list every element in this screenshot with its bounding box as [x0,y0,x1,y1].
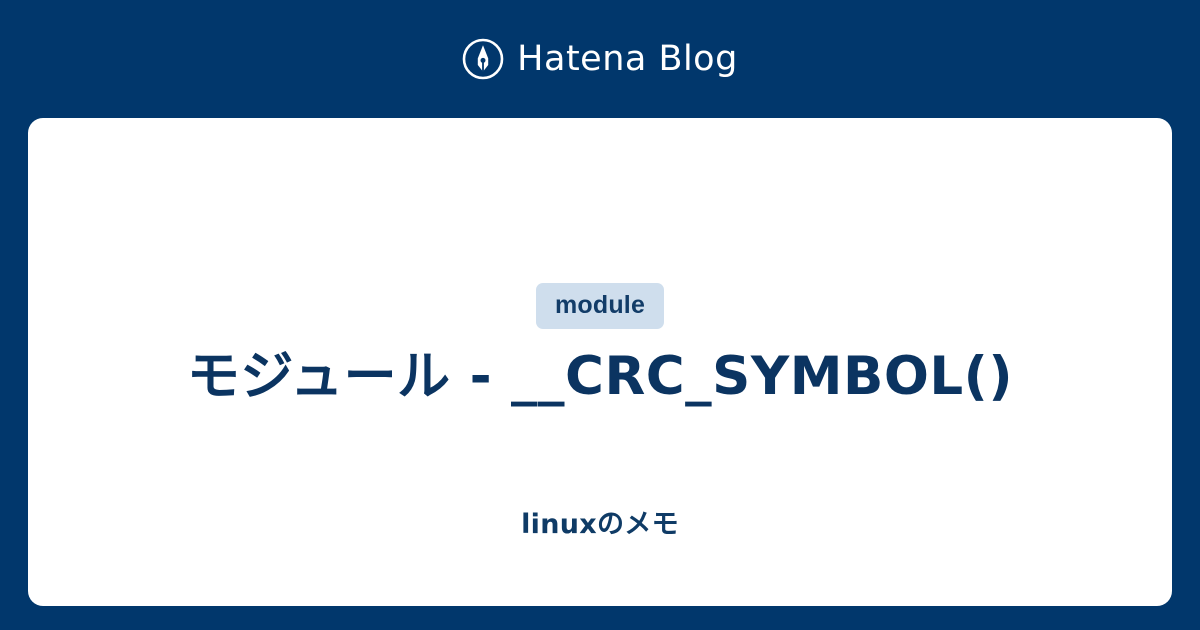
category-badge: module [536,283,664,329]
brand-name: Hatena Blog [517,42,738,77]
ogp-card: Hatena Blog module モジュール - __CRC_SYMBOL(… [0,0,1200,630]
hatena-pen-nib-icon [462,38,504,80]
entry-title: モジュール - __CRC_SYMBOL() [187,347,1013,406]
blog-title-wrap: linuxのメモ [28,511,1172,538]
entry-card: module モジュール - __CRC_SYMBOL() linuxのメモ [28,118,1172,606]
blog-title: linuxのメモ [521,511,679,538]
